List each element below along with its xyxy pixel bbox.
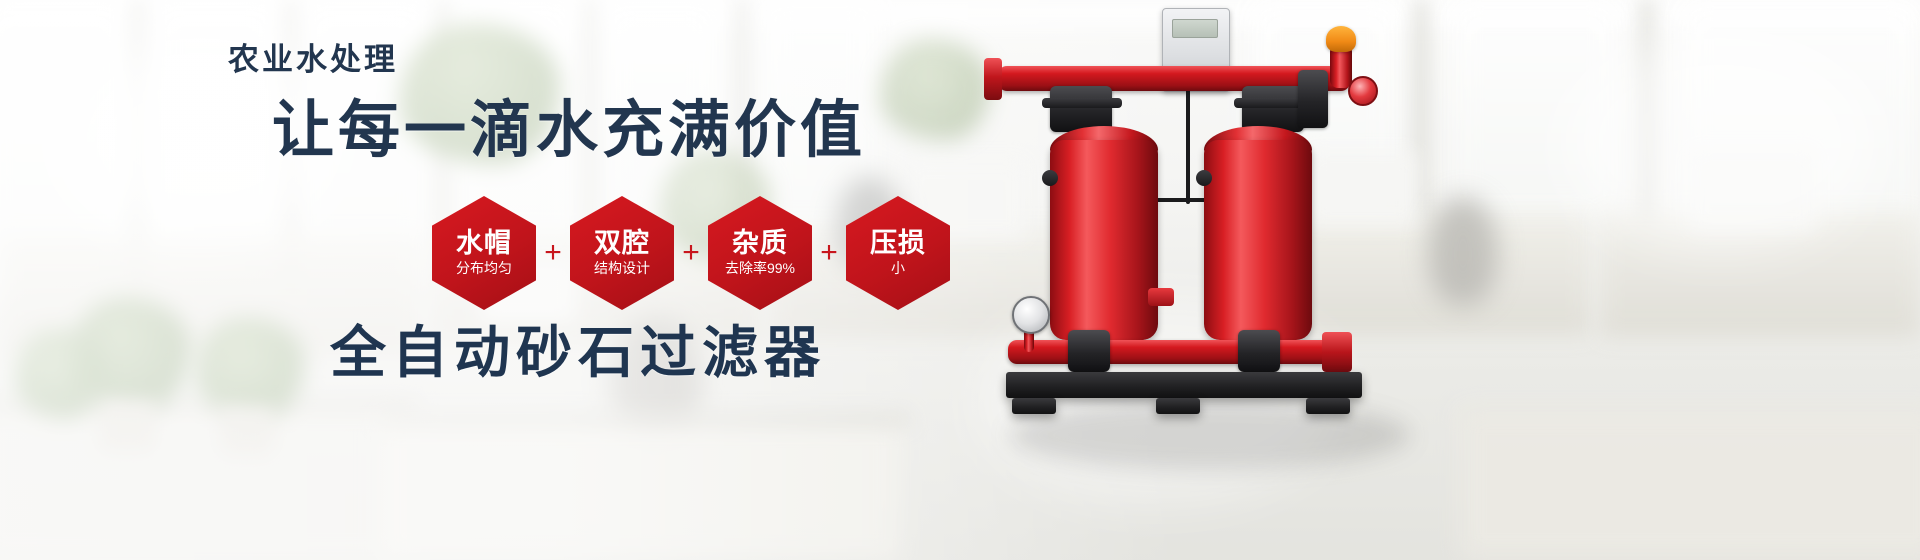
- feature-badge-3: 压损 小: [846, 196, 950, 310]
- bottom-valve: [1238, 330, 1280, 372]
- plus-separator-icon: +: [812, 238, 846, 268]
- banner-headline: 让每一滴水充满价值: [272, 100, 866, 162]
- feature-badge-subtitle: 结构设计: [594, 260, 650, 277]
- banner-subheadline: 全自动砂石过滤器: [330, 325, 826, 381]
- base-foot: [1306, 398, 1350, 414]
- pressure-gauge-red: [1348, 76, 1378, 106]
- plus-separator-icon: +: [674, 238, 708, 268]
- air-release-valve: [1326, 26, 1356, 52]
- feature-badge-2: 杂质 去除率99%: [708, 196, 812, 310]
- tank-side-port: [1196, 170, 1212, 186]
- feature-badge-title: 杂质: [732, 229, 788, 257]
- office-desk: [1460, 408, 1920, 560]
- filter-tank-right: [1204, 140, 1312, 340]
- banner-copy: 农业水处理 让每一滴水充满价值 水帽 分布均匀 + 双腔 结构设计 + 杂质 去…: [0, 0, 1180, 560]
- feature-badge-1: 双腔 结构设计: [570, 196, 674, 310]
- light-bloom: [1560, 30, 1880, 250]
- feature-badge-0: 水帽 分布均匀: [432, 196, 536, 310]
- feature-badge-subtitle: 去除率99%: [725, 260, 795, 277]
- feature-badge-title: 双腔: [594, 229, 650, 257]
- controller-cable: [1186, 88, 1190, 204]
- banner-eyebrow: 农业水处理: [228, 44, 398, 75]
- top-valve: [1242, 86, 1304, 132]
- feature-badge-title: 压损: [870, 229, 926, 257]
- feature-badge-title: 水帽: [456, 229, 512, 257]
- plus-separator-icon: +: [536, 238, 570, 268]
- bottom-outlet-flange: [1322, 332, 1352, 372]
- feature-badge-row: 水帽 分布均匀 + 双腔 结构设计 + 杂质 去除率99% + 压损 小: [432, 196, 950, 310]
- feature-badge-subtitle: 分布均匀: [456, 260, 512, 277]
- top-valve: [1298, 70, 1328, 128]
- promo-banner: BAIYUAN: [0, 0, 1920, 560]
- feature-badge-subtitle: 小: [891, 260, 905, 277]
